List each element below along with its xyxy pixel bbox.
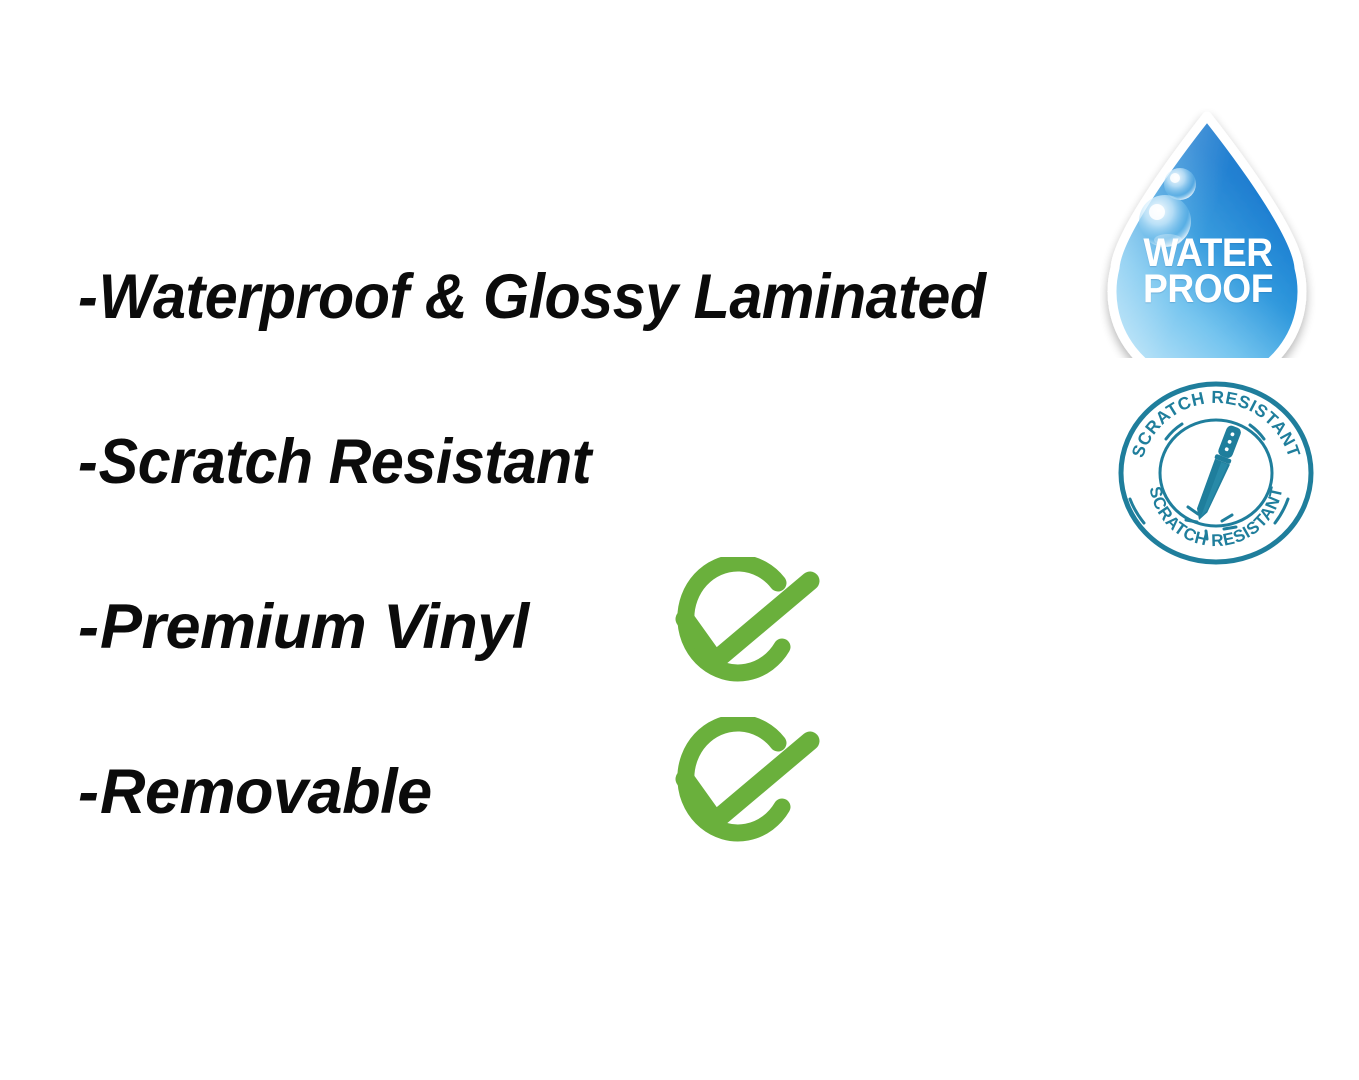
feature-label: Scratch Resistant [99,427,591,497]
feature-item-removable: -Removable [78,761,432,824]
scratch-resistant-badge: SCRATCH RESISTANT SCRATCH RESISTANT [1118,381,1314,565]
knife-icon [1192,424,1244,523]
check-tick [685,581,810,661]
green-check-removable [638,717,834,869]
feature-list-canvas: -Waterproof & Glossy Laminated -Scratch … [0,0,1359,1080]
feature-item-premium-vinyl: -Premium Vinyl [78,596,529,659]
scratch-resistant-stamp-icon: SCRATCH RESISTANT SCRATCH RESISTANT [1118,381,1314,565]
check-circle-icon [638,717,834,869]
feature-item-waterproof: -Waterproof & Glossy Laminated [78,266,986,329]
feature-bullet-dash: - [78,757,100,827]
feature-label: Waterproof & Glossy Laminated [99,262,986,332]
badge-arc-text-bottom: SCRATCH RESISTANT [1145,485,1286,550]
water-droplet-icon [1100,108,1316,358]
badge-arc-text-top: SCRATCH RESISTANT [1127,387,1304,460]
feature-bullet-dash: - [78,592,100,662]
feature-bullet-dash: - [78,427,99,497]
feature-item-scratch-resistant: -Scratch Resistant [78,431,591,494]
check-tick [685,741,810,821]
feature-label: Removable [100,757,432,827]
check-circle-icon [638,557,834,709]
water-bubble-small-icon [1164,168,1196,200]
waterproof-badge: WATER PROOF [1100,108,1316,358]
green-check-premium-vinyl [638,557,834,709]
feature-label: Premium Vinyl [100,592,529,662]
feature-bullet-dash: - [78,262,99,332]
